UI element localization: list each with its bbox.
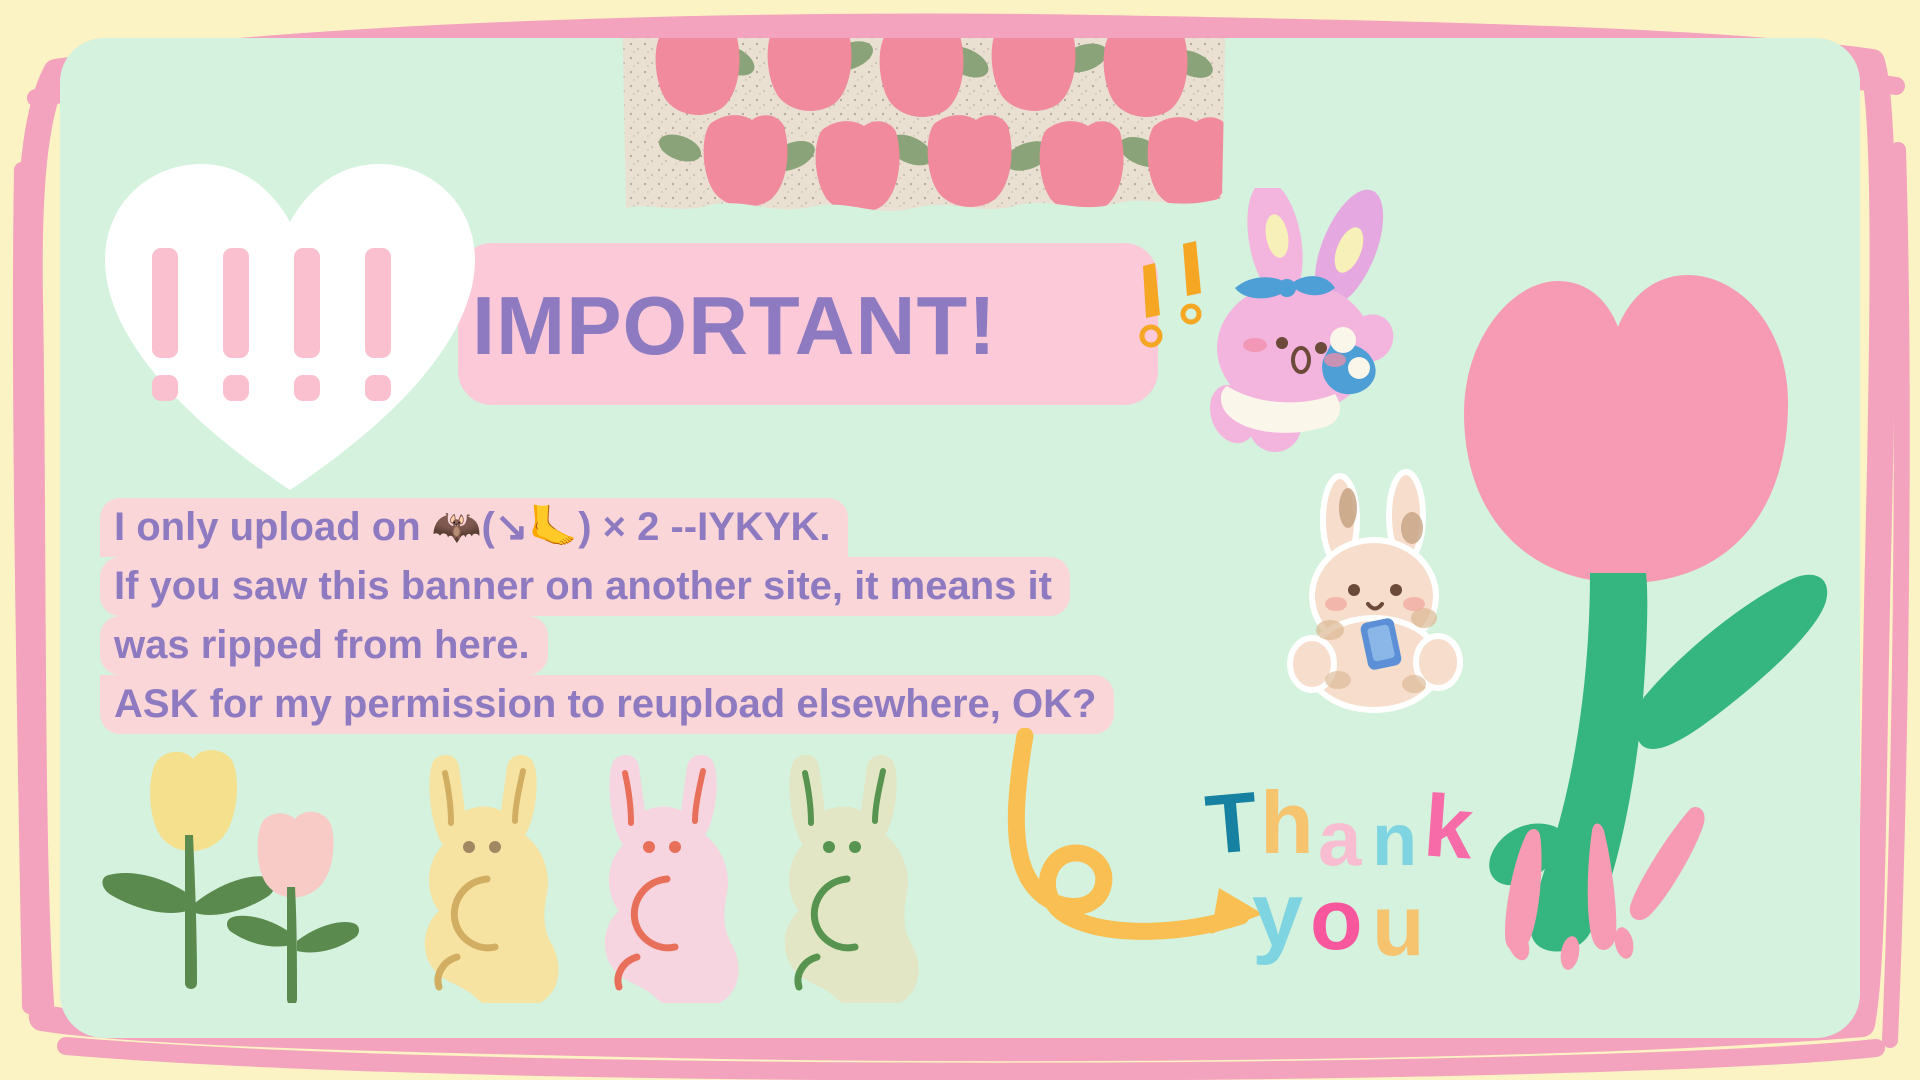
exclamation-1-dot [152,375,178,401]
heart-icon [95,150,485,500]
main-card: IMPORTANT! I only upload on 🦇(↘🦶) × 2 --… [60,38,1860,1038]
ty-letter-k: k [1421,781,1476,872]
exclamation-4 [365,248,391,358]
bunny-cookie-yellow [425,755,559,1003]
flying-pink-bunny [1135,188,1445,488]
small-tulip-pink [227,812,359,1003]
ty-letter-T: T [1202,779,1260,867]
page-title: IMPORTANT! [472,266,1112,386]
ty-letter-n: n [1372,803,1417,877]
exclamation-3 [294,248,320,358]
exclamation-2-dot [223,375,249,401]
ty-letter-h: h [1260,779,1314,867]
notice-line-2: If you saw this banner on another site, … [100,557,1070,616]
exclamation-2 [223,248,249,358]
banner-canvas: IMPORTANT! I only upload on 🦇(↘🦶) × 2 --… [0,0,1920,1080]
bunny-cookie-green [785,755,919,1003]
notice-line-4: ASK for my permission to reupload elsewh… [100,675,1114,734]
ty-letter-a: a [1318,799,1361,877]
notice-text-block: I only upload on 🦇(↘🦶) × 2 --IYKYK. If y… [100,498,1220,734]
exclamation-3-dot [294,375,320,401]
ty-letter-o: o [1310,877,1363,963]
small-tulip-yellow [102,750,274,989]
bunny-cookie-pink [605,755,739,1003]
exclamation-1 [152,248,178,358]
exclamation-4-dot [365,375,391,401]
notice-line-1: I only upload on 🦇(↘🦶) × 2 --IYKYK. [100,498,848,557]
bottom-decoration-group [95,743,975,1003]
ty-letter-y: y [1252,869,1303,961]
thank-you-lettering: T h a n k y o u [1200,773,1520,983]
ty-letter-u: u [1372,883,1425,969]
notice-line-3: was ripped from here. [100,616,548,675]
